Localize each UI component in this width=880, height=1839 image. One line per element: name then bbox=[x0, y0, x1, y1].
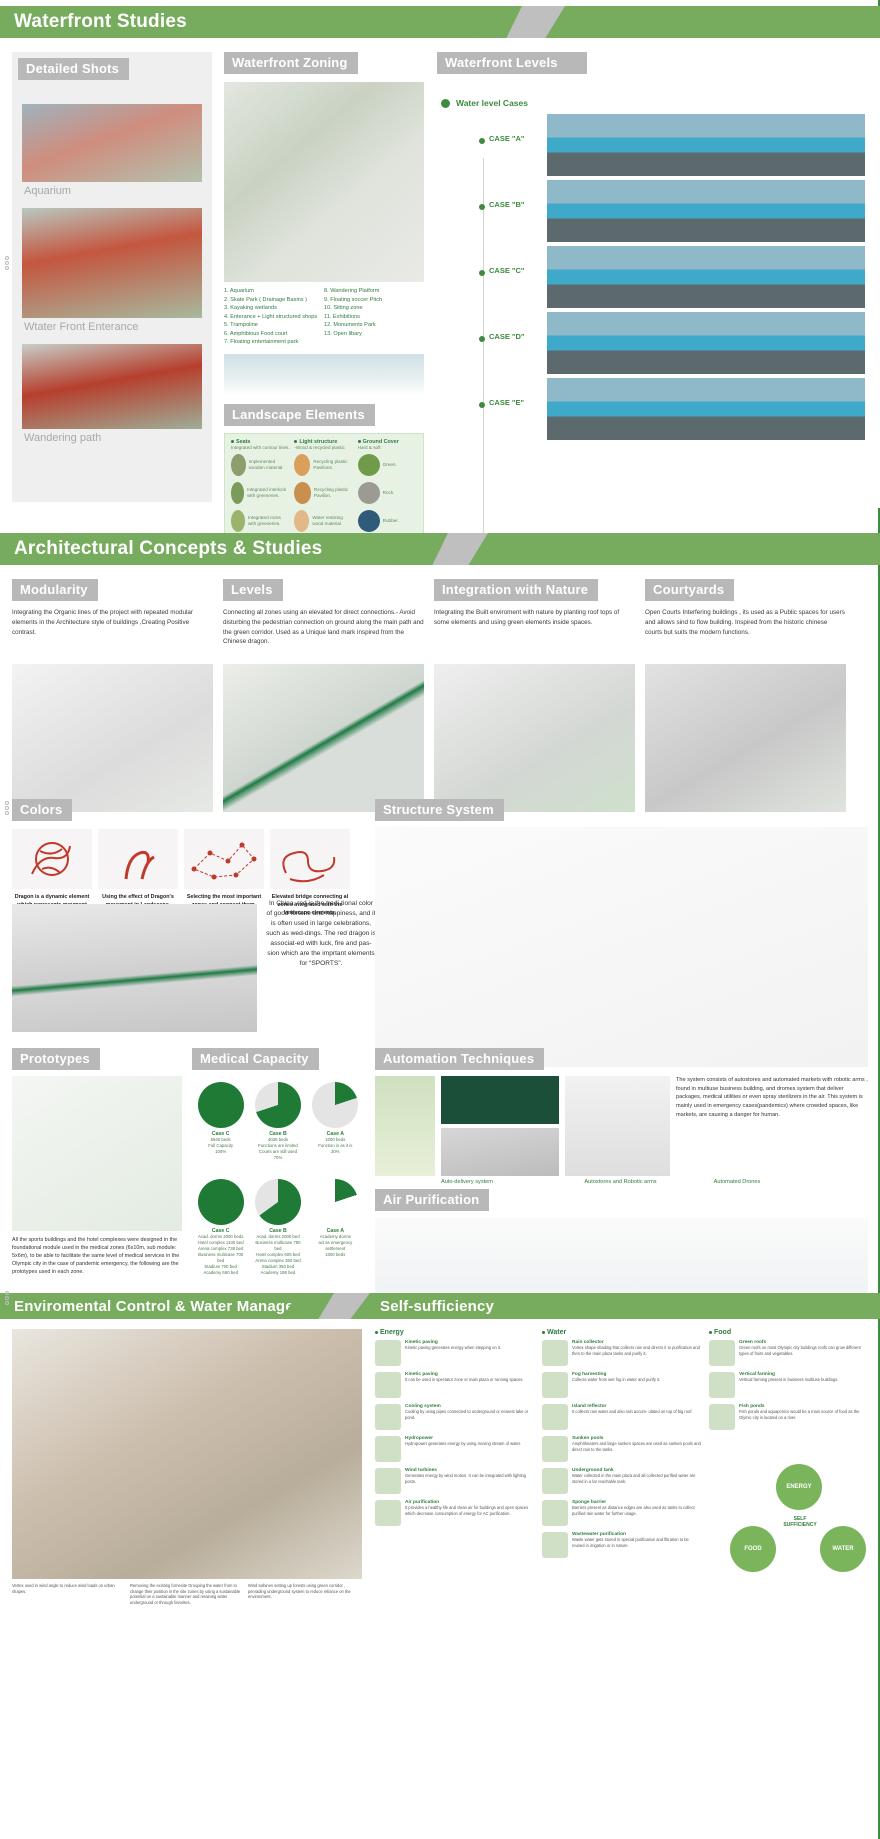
landscape-group-ground-cover: Ground Cover Hard & soft Green. Rock. Ru… bbox=[358, 439, 417, 537]
zone-network-icon bbox=[184, 829, 264, 889]
ss-item: Island reflectorIt collects rain water a… bbox=[542, 1404, 701, 1430]
ss-item-desc: Barriers present as distance edges are a… bbox=[572, 1505, 701, 1517]
bullet-dot-icon bbox=[441, 99, 450, 108]
case-diagram-image bbox=[547, 114, 865, 176]
donut-case-a-detail: Case A Academy dorms act as emergency se… bbox=[309, 1179, 361, 1276]
cycle-node-water: WATER bbox=[820, 1526, 866, 1572]
landscape-swatch-row: Implemented wooden material. bbox=[231, 451, 290, 479]
landscape-swatch-row: Integrated interlock with greeneries. bbox=[231, 479, 290, 507]
automation-caption: Auto-delivery system bbox=[375, 1179, 559, 1185]
bullet-dot-icon bbox=[294, 440, 297, 443]
legend-item: 13. Open libary bbox=[324, 330, 424, 339]
dragon-illustration-icon bbox=[12, 829, 92, 889]
concept-description: Open Courts Interfering buildings , its … bbox=[645, 608, 846, 660]
selfsufficiency-column-water: Water Rain collectorVortex shape shading… bbox=[542, 1329, 701, 1564]
swatch-thumb bbox=[294, 454, 310, 476]
prototypes-description: All the sports buildings and the hotel c… bbox=[12, 1236, 182, 1277]
case-row: CASE "E" bbox=[437, 378, 868, 442]
waterfront-levels-header: Waterfront Levels bbox=[437, 52, 587, 74]
ss-item-desc: It can be used in spectator zone or main… bbox=[405, 1377, 524, 1383]
donut-sub: Acad. dorms 2000 beds Hotel complex 1100… bbox=[195, 1234, 247, 1276]
column-title: Energy bbox=[375, 1329, 534, 1336]
environmental-masterplan-image bbox=[12, 1329, 362, 1579]
prototypes-axonometric-image bbox=[12, 1076, 182, 1231]
structure-system-panel: Structure System bbox=[375, 799, 868, 1067]
water-level-cases-title: Water level Cases bbox=[441, 98, 868, 108]
vertical-farming-icon bbox=[709, 1372, 735, 1398]
section-architectural-concepts: Architectural Concepts & Studies Modular… bbox=[0, 533, 880, 812]
column-title: Water bbox=[542, 1329, 701, 1336]
architecture-title: Architectural Concepts & Studies bbox=[14, 538, 322, 560]
concept-image bbox=[12, 664, 213, 812]
landscape-swatch-row: Rubber. bbox=[358, 507, 417, 535]
ss-item: Cooling systemCooling by using pipes con… bbox=[375, 1404, 534, 1430]
donut-sub: 5940 beds Full Capacity 100% bbox=[195, 1137, 247, 1155]
case-row: CASE "C" bbox=[437, 246, 868, 310]
environmental-note: Removing the existing fornesite Grouping… bbox=[130, 1583, 244, 1606]
concept-header: Integration with Nature bbox=[434, 579, 598, 601]
case-row: CASE "B" bbox=[437, 180, 868, 244]
landscape-elements-panel: Seats Integrated with contour lines. Imp… bbox=[224, 433, 424, 543]
case-bullet-icon bbox=[479, 270, 485, 276]
kinetic-paving-icon bbox=[375, 1340, 401, 1366]
swatch-thumb bbox=[294, 510, 309, 532]
environmental-panel: Vertex used in wind angle to reduce wind… bbox=[12, 1323, 362, 1606]
column-title: Food bbox=[709, 1329, 868, 1336]
concept-card-modularity: Modularity Integrating the Organic lines… bbox=[12, 579, 213, 812]
medical-capacity-panel: Medical Capacity Case C 5940 beds Full C… bbox=[192, 1048, 364, 1276]
self-sufficiency-cycle-diagram: ENERGY SELF SUFFICIENCY FOOD WATER bbox=[728, 1464, 868, 1574]
donut-ring bbox=[198, 1179, 244, 1225]
legend-item: 6. Amphibious Food court bbox=[224, 330, 324, 339]
legend-item: 8. Wandering Platform bbox=[324, 287, 424, 296]
ss-item-desc: Vertical farming present in business mul… bbox=[739, 1377, 838, 1383]
landscape-swatch-row: Recycling plastic Pavilions. bbox=[294, 451, 353, 479]
environmental-title: Enviromental Control & Water Management bbox=[14, 1298, 330, 1315]
case-bullet-icon bbox=[479, 204, 485, 210]
medical-donut-row-1: Case C 5940 beds Full Capacity 100% Case… bbox=[192, 1082, 364, 1161]
concept-cards: Modularity Integrating the Organic lines… bbox=[0, 565, 880, 812]
concept-header: Courtyards bbox=[645, 579, 734, 601]
case-bullet-icon bbox=[479, 402, 485, 408]
air-purification-icon bbox=[375, 1500, 401, 1526]
ss-item: Air purificationIt provides a healthy li… bbox=[375, 1500, 534, 1526]
landscape-swatch-row: Recycling plastic Pavilion. bbox=[294, 479, 353, 507]
landscape-group-light-structure: Light structure -Wood & recycled plastic… bbox=[294, 439, 353, 537]
red-color-paragraph: In China, red is the tradi-tional color … bbox=[266, 899, 376, 969]
presentation-board: Waterfront Studies Detailed Shots Aquari… bbox=[0, 0, 880, 1839]
concept-description: Connecting all zones using an elevated f… bbox=[223, 608, 424, 660]
ss-item: Sunken poolsAmphitheaters and large sunk… bbox=[542, 1436, 701, 1462]
environmental-note: Wind turbines setting up forests using g… bbox=[248, 1583, 362, 1606]
donut-sub: Academy dorms act as emergency settlemen… bbox=[309, 1234, 361, 1258]
swatch-thumb bbox=[231, 454, 246, 476]
ss-item-desc: Kinetic paving generates energy when ste… bbox=[405, 1345, 501, 1351]
waterfront-zoning-panel: Waterfront Zoning 1. Aquarium 2. Skate P… bbox=[224, 52, 424, 543]
fish-ponds-icon bbox=[709, 1404, 735, 1430]
legend-item: 11. Exhibitions bbox=[324, 313, 424, 322]
ss-item-desc: Hydropower generates energy by using mov… bbox=[405, 1441, 521, 1447]
landscape-swatch-row: Integrated rocks with greeneries. bbox=[231, 507, 290, 535]
ss-item-desc: Generates energy by wind motion. It can … bbox=[405, 1473, 534, 1485]
case-diagram-image bbox=[547, 180, 865, 242]
elevated-bridge-icon bbox=[270, 829, 350, 889]
zoning-legend-left: 1. Aquarium 2. Skate Park ( Drainage Bas… bbox=[224, 287, 324, 347]
legend-item: 12. Monuments Park bbox=[324, 321, 424, 330]
selfsufficiency-title: Self-sufficiency bbox=[380, 1298, 494, 1315]
swatch-thumb bbox=[231, 482, 244, 504]
prototypes-panel: Prototypes All the sports buildings and … bbox=[12, 1048, 182, 1277]
donut-sub: 1000 beds Function is as it is 20% bbox=[309, 1137, 361, 1155]
legend-item: 4. Enterance + Light structured shops bbox=[224, 313, 324, 322]
section-waterfront-studies: Waterfront Studies Detailed Shots Aquari… bbox=[0, 6, 880, 508]
swatch-thumb bbox=[358, 510, 380, 532]
colors-panel: Colors Dragon is a dynamic element which… bbox=[12, 799, 362, 917]
caption-entrance: Wtater Front Enterance bbox=[12, 318, 212, 336]
detailed-shots-panel: Detailed Shots Aquarium Wtater Front Ent… bbox=[12, 52, 212, 502]
ss-item: Fog harvestingCollects water from wet fo… bbox=[542, 1372, 701, 1398]
legend-item: 2. Skate Park ( Drainage Basins ) bbox=[224, 296, 324, 305]
ss-item: Vertical farmingVertical farming present… bbox=[709, 1372, 868, 1398]
automation-panel: Automation Techniques The system consist… bbox=[375, 1048, 868, 1309]
selfsufficiency-column-food: Food Green roofsGreen roofs on most Olym… bbox=[709, 1329, 868, 1564]
ss-item: Wastewater purificationWaste water gets … bbox=[542, 1532, 701, 1558]
ss-item-desc: Collects water from wet fog in water and… bbox=[572, 1377, 660, 1383]
case-diagram-image bbox=[547, 246, 865, 308]
underground-tank-icon bbox=[542, 1468, 568, 1494]
landscape-swatch-row: Green. bbox=[358, 451, 417, 479]
ss-item: Underground tankWater collected in the m… bbox=[542, 1468, 701, 1494]
ss-item: Green roofsGreen roofs on most Olympic c… bbox=[709, 1340, 868, 1366]
sunken-pools-icon bbox=[542, 1436, 568, 1462]
bullet-dot-icon bbox=[709, 1331, 712, 1334]
automation-paragraph: The system consists of autostores and au… bbox=[676, 1076, 868, 1119]
ss-item-desc: Amphitheaters and large sunken spaces ar… bbox=[572, 1441, 701, 1453]
caption-aquarium: Aquarium bbox=[12, 182, 212, 200]
environmental-note: Vertex used in wind angle to reduce wind… bbox=[12, 1583, 126, 1606]
photo-wandering-path bbox=[22, 344, 202, 429]
ss-item-desc: It collects rain water and also rain acc… bbox=[572, 1409, 693, 1415]
selfsufficiency-panel: Energy Kinetic pavingKinetic paving gene… bbox=[375, 1323, 868, 1564]
air-purification-header: Air Purification bbox=[375, 1189, 489, 1211]
legend-item: 5. Trampoline bbox=[224, 321, 324, 330]
section-environmental-selfsufficiency: Enviromental Control & Water Management … bbox=[0, 1293, 880, 1319]
kinetic-paving-zone-icon bbox=[375, 1372, 401, 1398]
automation-caption: Automated Drones bbox=[682, 1179, 792, 1185]
concept-description: Integrating the Built enviroment with na… bbox=[434, 608, 635, 660]
ss-item: HydropowerHydropower generates energy by… bbox=[375, 1436, 534, 1462]
concept-image bbox=[223, 664, 424, 812]
case-row: CASE "A" bbox=[437, 114, 868, 178]
swatch-thumb bbox=[294, 482, 311, 504]
waterfront-banner: Waterfront Studies bbox=[0, 6, 880, 38]
waterfront-levels-panel: Waterfront Levels Water level Cases CASE… bbox=[437, 52, 868, 444]
robotic-arms-image bbox=[441, 1128, 559, 1176]
legend-item: 10. Sitting zone bbox=[324, 304, 424, 313]
concept-card-courtyards: Courtyards Open Courts Interfering build… bbox=[645, 579, 846, 812]
binder-hole bbox=[4, 1290, 14, 1300]
case-row: CASE "D" bbox=[437, 312, 868, 376]
autostore-image bbox=[441, 1076, 559, 1124]
photo-waterfront-entrance bbox=[22, 208, 202, 318]
automation-header: Automation Techniques bbox=[375, 1048, 544, 1070]
swatch-thumb bbox=[231, 510, 245, 532]
case-diagram-image bbox=[547, 312, 865, 374]
binder-hole bbox=[4, 800, 14, 810]
donut-sub: Acad. dorms 2000 bed Business multicase … bbox=[252, 1234, 304, 1276]
concept-header: Levels bbox=[223, 579, 283, 601]
ss-item-desc: Vortex shape shading that collects rain … bbox=[572, 1345, 701, 1357]
zoning-masterplan-image bbox=[224, 82, 424, 282]
bullet-dot-icon bbox=[231, 440, 234, 443]
landscape-group-sub: Integrated with contour lines. bbox=[231, 445, 290, 451]
island-reflector-icon bbox=[542, 1404, 568, 1430]
ss-item: Wind turbinesGenerates energy by wind mo… bbox=[375, 1468, 534, 1494]
donut-ring bbox=[312, 1179, 358, 1225]
hydropower-icon bbox=[375, 1436, 401, 1462]
cycle-node-food: FOOD bbox=[730, 1526, 776, 1572]
swatch-thumb bbox=[358, 482, 380, 504]
ss-item-desc: Green roofs on most Olympic city buildin… bbox=[739, 1345, 868, 1357]
donut-case-b: Case B 4038 beds Functions are limited C… bbox=[252, 1082, 304, 1161]
concept-image bbox=[645, 664, 846, 812]
ss-item: Rain collectorVortex shape shading that … bbox=[542, 1340, 701, 1366]
case-bullet-icon bbox=[479, 336, 485, 342]
binder-hole bbox=[4, 255, 14, 265]
concept-card-integration-with-nature: Integration with Nature Integrating the … bbox=[434, 579, 635, 812]
donut-sub: 4038 beds Functions are limited Courts a… bbox=[252, 1137, 304, 1161]
donut-ring bbox=[255, 1082, 301, 1128]
zoning-legend: 1. Aquarium 2. Skate Park ( Drainage Bas… bbox=[224, 287, 424, 347]
fog-harvesting-icon bbox=[542, 1372, 568, 1398]
landscape-elements-header: Landscape Elements bbox=[224, 404, 375, 426]
concept-image bbox=[434, 664, 635, 812]
case-bullet-icon bbox=[479, 138, 485, 144]
cooling-system-icon bbox=[375, 1404, 401, 1430]
ss-item-desc: Cooling by using pipes connected to unde… bbox=[405, 1409, 534, 1421]
bullet-dot-icon bbox=[542, 1331, 545, 1334]
donut-case-c: Case C 5940 beds Full Capacity 100% bbox=[195, 1082, 247, 1161]
legend-item: 1. Aquarium bbox=[224, 287, 324, 296]
donut-ring bbox=[255, 1179, 301, 1225]
sponge-barrier-icon bbox=[542, 1500, 568, 1526]
wastewater-purification-icon bbox=[542, 1532, 568, 1558]
swatch-thumb bbox=[358, 454, 380, 476]
ss-item-desc: Water collected in the main plaza and al… bbox=[572, 1473, 701, 1485]
rain-collector-icon bbox=[542, 1340, 568, 1366]
ss-item-desc: It provides a healthy life and clean air… bbox=[405, 1505, 534, 1517]
structure-exploded-axonometric bbox=[375, 827, 868, 1067]
case-diagram-image bbox=[547, 378, 865, 440]
bullet-dot-icon bbox=[375, 1331, 378, 1334]
ss-item-desc: Waste water gets stored in special purif… bbox=[572, 1537, 701, 1549]
cycle-node-energy: ENERGY bbox=[776, 1464, 822, 1510]
structure-system-header: Structure System bbox=[375, 799, 504, 821]
bullet-dot-icon bbox=[358, 440, 361, 443]
donut-ring bbox=[312, 1082, 358, 1128]
landscape-group-sub: -Wood & recycled plastic bbox=[294, 445, 353, 451]
architecture-banner: Architectural Concepts & Studies bbox=[0, 533, 880, 565]
automation-content-row: The system consists of autostores and au… bbox=[375, 1076, 868, 1176]
ss-item: Kinetic pavingIt can be used in spectato… bbox=[375, 1372, 534, 1398]
legend-item: 7. Floating entertainment park bbox=[224, 338, 324, 347]
medical-capacity-header: Medical Capacity bbox=[192, 1048, 319, 1070]
donut-case-b-detail: Case B Acad. dorms 2000 bed Business mul… bbox=[252, 1179, 304, 1276]
selfsufficiency-columns: Energy Kinetic pavingKinetic paving gene… bbox=[375, 1329, 868, 1564]
legend-item: 9. Floating soccer Pitch bbox=[324, 296, 424, 305]
colors-header: Colors bbox=[12, 799, 72, 821]
legend-item: 3. Kayaking wetlands bbox=[224, 304, 324, 313]
ss-item-desc: Fish ponds and aquaponics would be a mai… bbox=[739, 1409, 868, 1421]
donut-case-a: Case A 1000 beds Function is as it is 20… bbox=[309, 1082, 361, 1161]
auto-delivery-image bbox=[375, 1076, 435, 1176]
drone-image bbox=[565, 1076, 670, 1176]
dragon-movement-icon bbox=[98, 829, 178, 889]
zoning-legend-right: 8. Wandering Platform 9. Floating soccer… bbox=[324, 287, 424, 347]
selfsufficiency-column-energy: Energy Kinetic pavingKinetic paving gene… bbox=[375, 1329, 534, 1564]
caption-wandering-path: Wandering path bbox=[12, 429, 212, 447]
concept-card-levels: Levels Connecting all zones using an ele… bbox=[223, 579, 424, 812]
waterfront-title: Waterfront Studies bbox=[14, 11, 187, 33]
prototypes-header: Prototypes bbox=[12, 1048, 100, 1070]
concept-header: Modularity bbox=[12, 579, 98, 601]
donut-case-c-detail: Case C Acad. dorms 2000 beds Hotel compl… bbox=[195, 1179, 247, 1276]
environmental-banner: Enviromental Control & Water Management … bbox=[0, 1293, 880, 1319]
ss-item: Sponge barrierBarriers present as distan… bbox=[542, 1500, 701, 1526]
medical-donut-row-2: Case C Acad. dorms 2000 beds Hotel compl… bbox=[192, 1179, 364, 1276]
street-view-render bbox=[12, 904, 257, 1032]
green-roofs-icon bbox=[709, 1340, 735, 1366]
detailed-shots-header: Detailed Shots bbox=[18, 58, 129, 80]
concept-description: Integrating the Organic lines of the pro… bbox=[12, 608, 213, 660]
cycle-center-label: SELF SUFFICIENCY bbox=[780, 1516, 820, 1528]
waterfront-zoning-header: Waterfront Zoning bbox=[224, 52, 358, 74]
donut-ring bbox=[198, 1082, 244, 1128]
ss-item: Kinetic pavingKinetic paving generates e… bbox=[375, 1340, 534, 1366]
ss-item: Fish pondsFish ponds and aquaponics woul… bbox=[709, 1404, 868, 1430]
photo-aquarium bbox=[22, 104, 202, 182]
wind-turbines-icon bbox=[375, 1468, 401, 1494]
landscape-group-seats: Seats Integrated with contour lines. Imp… bbox=[231, 439, 290, 537]
landscape-swatch-row: Rock. bbox=[358, 479, 417, 507]
zoning-section-image bbox=[224, 354, 424, 396]
landscape-swatch-row: Water resisting wood material bbox=[294, 507, 353, 535]
automation-caption: Autostores and Robotic arms bbox=[565, 1179, 676, 1185]
